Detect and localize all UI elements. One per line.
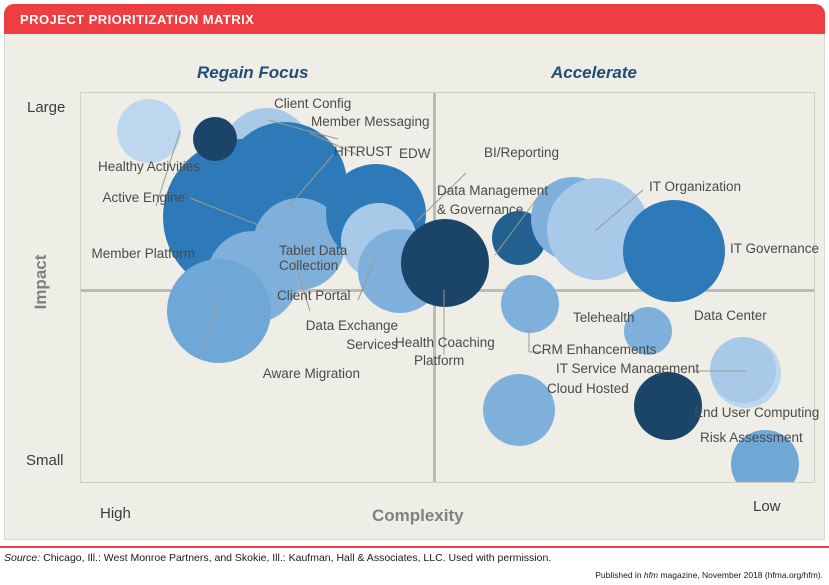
bubble-it-governance[interactable] <box>623 200 725 302</box>
y-axis-title: Impact <box>31 237 51 327</box>
plot-area <box>80 92 815 483</box>
quadrant-title-accelerate: Accelerate <box>551 63 637 83</box>
bubble-telehealth[interactable] <box>624 307 672 355</box>
bubble-cloud-hosted[interactable] <box>483 374 555 446</box>
bubble-active-engine[interactable] <box>193 117 237 161</box>
bubble-aware-migration[interactable] <box>167 259 271 363</box>
title-banner: PROJECT PRIORITIZATION MATRIX <box>4 4 825 34</box>
published-magazine: hfm <box>644 570 658 580</box>
x-axis-tick-high: High <box>100 505 131 522</box>
quadrant-title-regain-focus: Regain Focus <box>197 63 308 83</box>
bubble-crm-enhancements[interactable] <box>501 275 559 333</box>
source-note: Source: Chicago, Ill.: West Monroe Partn… <box>4 552 551 564</box>
bubble-health-coaching-platform[interactable] <box>401 219 489 307</box>
source-text: Chicago, Ill.: West Monroe Partners, and… <box>43 552 551 564</box>
bubble-data-center[interactable] <box>710 337 776 403</box>
publication-note: Published in hfm magazine, November 2018… <box>595 570 823 580</box>
published-prefix: Published in <box>595 570 641 580</box>
y-axis-tick-large: Large <box>27 99 65 116</box>
bubble-end-user-computing[interactable] <box>634 372 702 440</box>
project-prioritization-matrix-figure: PROJECT PRIORITIZATION MATRIX Regain Foc… <box>0 0 829 585</box>
figure-title: PROJECT PRIORITIZATION MATRIX <box>20 12 254 27</box>
y-axis-tick-small: Small <box>26 452 64 469</box>
x-axis-tick-low: Low <box>753 498 781 515</box>
footer-divider <box>0 546 829 548</box>
bubble-risk-assessment[interactable] <box>731 430 799 483</box>
source-label: Source: <box>4 552 40 564</box>
x-axis-title: Complexity <box>372 506 464 526</box>
bubble-healthy-activities[interactable] <box>117 99 181 163</box>
published-suffix: magazine, November 2018 (hfma.org/hfm). <box>660 570 823 580</box>
